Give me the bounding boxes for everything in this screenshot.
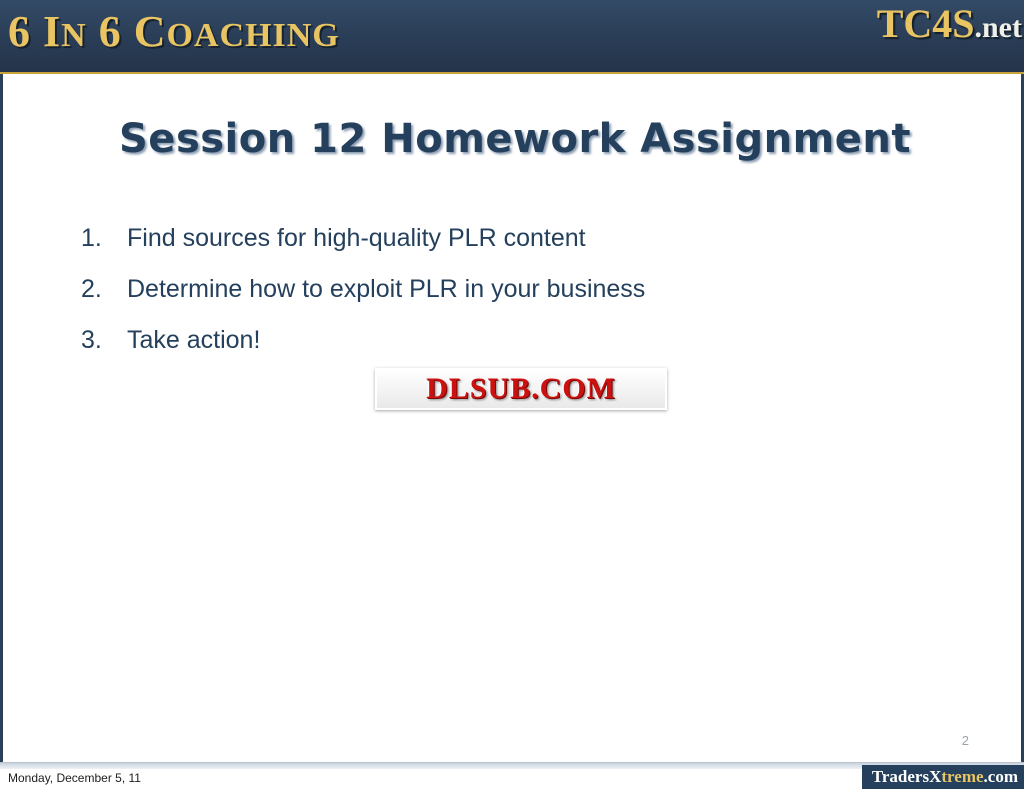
tc4s-brand-suffix: .net (975, 11, 1023, 44)
footer-bar: Monday, December 5, 11 TradersXtreme.com (0, 762, 1024, 789)
list-item-label: Determine how to exploit PLR in your bus… (127, 275, 645, 304)
footer-date: Monday, December 5, 11 (8, 771, 141, 785)
list-item-number: 3. (81, 326, 127, 355)
course-logo-title: 6 IN 6 COACHING (8, 6, 340, 57)
brand-accent: treme (941, 767, 983, 786)
list-item-number: 2. (81, 275, 127, 304)
list-item-label: Find sources for high-quality PLR conten… (127, 224, 586, 253)
tradersxtreme-brand: TradersXtreme.com (862, 765, 1024, 789)
slide-title: Session 12 Homework Assignment (3, 116, 1024, 162)
course-logo-6: 6 I (8, 7, 61, 56)
list-item: 1. Find sources for high-quality PLR con… (81, 224, 941, 253)
tc4s-brand-main: TC4S (877, 1, 975, 46)
dlsub-watermark-text: DLSUB.COM (426, 372, 616, 406)
course-logo-6c: 6 C (87, 7, 167, 56)
list-item-label: Take action! (127, 326, 260, 355)
tradersxtreme-brand-text: TradersXtreme.com (872, 767, 1018, 787)
brand-main: TradersX (872, 767, 942, 786)
list-item: 3. Take action! (81, 326, 941, 355)
header-banner: 6 IN 6 COACHING TC4S.net (0, 0, 1024, 74)
dlsub-watermark-logo: DLSUB.COM (375, 368, 667, 410)
slide-canvas: 6 IN 6 COACHING TC4S.net Session 12 Home… (0, 0, 1024, 788)
brand-end: .com (984, 767, 1018, 786)
slide-content: Session 12 Homework Assignment 1. Find s… (0, 74, 1024, 762)
course-logo-oaching: OACHING (166, 17, 339, 54)
tc4s-brand-logo: TC4S.net (877, 0, 1022, 47)
list-item: 2. Determine how to exploit PLR in your … (81, 275, 941, 304)
list-item-number: 1. (81, 224, 127, 253)
numbered-list: 1. Find sources for high-quality PLR con… (81, 224, 941, 377)
course-logo-in: N (61, 17, 87, 54)
page-number: 2 (962, 733, 969, 748)
